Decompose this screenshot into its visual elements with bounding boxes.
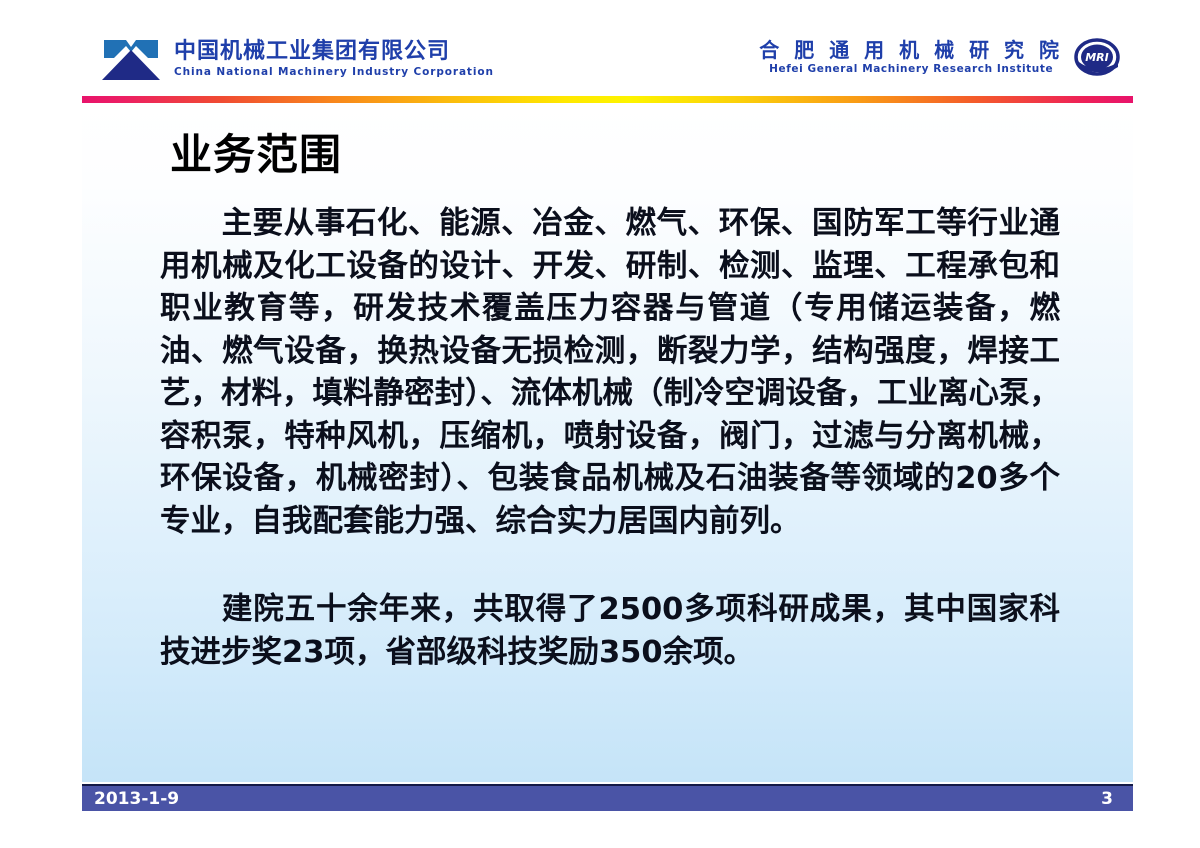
body-paragraph-2: 建院五十余年来，共取得了2500多项科研成果，其中国家科技进步奖23项，省部级科… [160, 589, 1060, 674]
corporate-name-en: China National Machinery Industry Corpor… [174, 67, 494, 78]
slide-canvas: 中国机械工业集团有限公司 China National Machinery In… [0, 0, 1200, 848]
mri-circle-logo-icon: MRI [1073, 36, 1121, 78]
svg-text:MRI: MRI [1085, 51, 1109, 64]
corporate-name-cn: 中国机械工业集团有限公司 [174, 41, 494, 63]
mountain-book-logo-icon [100, 36, 164, 82]
header-gradient-divider [82, 96, 1133, 103]
footer-page-number: 3 [1101, 789, 1113, 809]
slide-header: 中国机械工业集团有限公司 China National Machinery In… [82, 14, 1133, 92]
institute-name-en: Hefei General Machinery Research Institu… [759, 64, 1063, 75]
body-paragraph-1-text: 主要从事石化、能源、冶金、燃气、环保、国防军工等行业通用机械及化工设备的设计、开… [160, 206, 1060, 539]
body-paragraph-2-text: 建院五十余年来，共取得了2500多项科研成果，其中国家科技进步奖23项，省部级科… [160, 592, 1060, 670]
institute-name-cn: 合 肥 通 用 机 械 研 究 院 [759, 40, 1063, 60]
page-title: 业务范围 [170, 121, 342, 182]
slide-content-panel: 业务范围 主要从事石化、能源、冶金、燃气、环保、国防军工等行业通用机械及化工设备… [82, 103, 1133, 782]
institute-brand-right: 合 肥 通 用 机 械 研 究 院 Hefei General Machiner… [759, 36, 1121, 78]
corporate-brand-left: 中国机械工业集团有限公司 China National Machinery In… [100, 36, 494, 82]
institute-brand-right-text: 合 肥 通 用 机 械 研 究 院 Hefei General Machiner… [759, 40, 1063, 75]
footer-date: 2013-1-9 [94, 789, 179, 809]
corporate-brand-left-text: 中国机械工业集团有限公司 China National Machinery In… [174, 41, 494, 78]
slide-footer: 2013-1-9 3 [82, 784, 1133, 811]
body-paragraph-1: 主要从事石化、能源、冶金、燃气、环保、国防军工等行业通用机械及化工设备的设计、开… [160, 203, 1060, 543]
